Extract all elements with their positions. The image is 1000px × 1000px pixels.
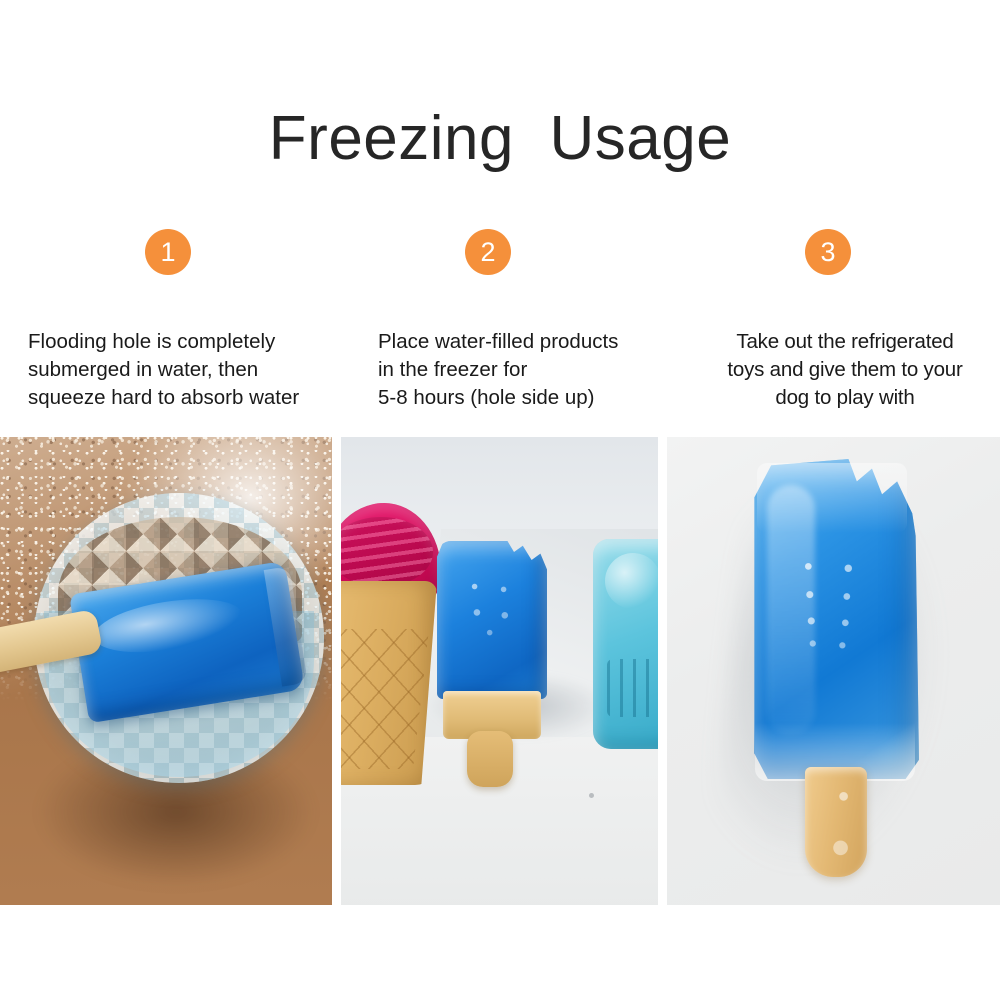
page-title: Freezing Usage bbox=[0, 104, 1000, 174]
toy-ribs bbox=[607, 659, 658, 717]
popsicle-embossing bbox=[463, 575, 521, 647]
step-badge-2: 2 bbox=[465, 229, 511, 275]
step-caption-2: Place water-filled products in the freez… bbox=[378, 328, 678, 412]
stick-dimples bbox=[817, 787, 855, 865]
photo-strip bbox=[0, 437, 1000, 905]
step-caption-1: Flooding hole is completely submerged in… bbox=[28, 328, 358, 412]
popsicle-stick-tab bbox=[467, 731, 513, 787]
step-badge-3: 3 bbox=[805, 229, 851, 275]
step-photo-2 bbox=[341, 437, 658, 905]
step-badge-1: 1 bbox=[145, 229, 191, 275]
pink-ice-cream-cone-toy bbox=[341, 503, 441, 785]
step-photo-3 bbox=[667, 437, 1000, 905]
ice-cream-swirl bbox=[341, 517, 433, 587]
step-caption-3: Take out the refrigerated toys and give … bbox=[700, 328, 990, 412]
blue-popsicle-toy-in-freezer bbox=[437, 541, 547, 763]
light-blue-chew-toy bbox=[593, 539, 658, 749]
toy-highlight bbox=[605, 553, 658, 609]
popsicle-bubble-texture bbox=[795, 557, 869, 651]
popsicle-blue-body bbox=[437, 541, 547, 699]
step-photo-1 bbox=[0, 437, 332, 905]
drawer-speck bbox=[589, 793, 594, 798]
